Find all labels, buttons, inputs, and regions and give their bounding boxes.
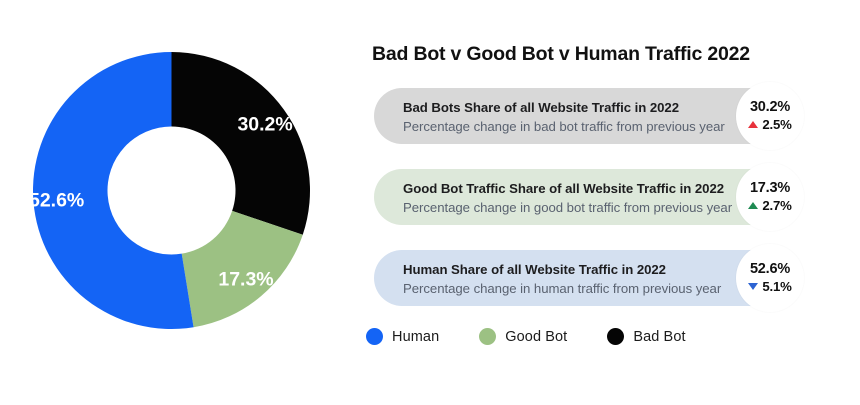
donut-chart: 30.2%17.3%52.6% [33,52,310,329]
stat-card-badge: 30.2%2.5% [736,82,804,150]
donut-chart-panel: 30.2%17.3%52.6% [0,0,360,405]
stat-card-delta-value: 2.7% [762,198,791,213]
stat-card-delta-value: 2.5% [762,117,791,132]
stat-card-delta-value: 5.1% [762,279,791,294]
arrow-down-icon [748,283,758,290]
stat-card-share-value: 17.3% [750,181,790,197]
stat-card-delta: 5.1% [748,279,791,294]
stat-card[interactable]: Bad Bots Share of all Website Traffic in… [374,88,804,144]
stat-card-text: Bad Bots Share of all Website Traffic in… [403,99,763,136]
arrow-up-icon [748,202,758,209]
page-title: Bad Bot v Good Bot v Human Traffic 2022 [372,43,750,66]
stat-card-share-value: 30.2% [750,100,790,116]
stat-card-text: Human Share of all Website Traffic in 20… [403,261,763,298]
stat-card-delta: 2.7% [748,198,791,213]
donut-label-bad-bot: 30.2% [237,113,292,135]
stats-panel: Bad Bot v Good Bot v Human Traffic 2022 … [360,0,860,405]
stat-card[interactable]: Good Bot Traffic Share of all Website Tr… [374,169,804,225]
stat-card-subtitle: Percentage change in bad bot traffic fro… [403,117,763,136]
stat-card-delta: 2.5% [748,117,791,132]
donut-label-human: 52.6% [33,190,84,212]
stat-card-badge: 17.3%2.7% [736,163,804,231]
stat-card-title: Good Bot Traffic Share of all Website Tr… [403,180,763,197]
stat-card-subtitle: Percentage change in human traffic from … [403,279,763,298]
infographic-root: 30.2%17.3%52.6% HumanGood BotBad Bot Bad… [0,0,860,405]
donut-slice-bad-bot [172,52,311,235]
stat-card-badge: 52.6%5.1% [736,244,804,312]
stat-card-text: Good Bot Traffic Share of all Website Tr… [403,180,763,217]
stat-card-list: Bad Bots Share of all Website Traffic in… [360,88,860,331]
donut-chart-svg: 30.2%17.3%52.6% [33,52,310,329]
stat-card-title: Human Share of all Website Traffic in 20… [403,261,763,278]
stat-card-title: Bad Bots Share of all Website Traffic in… [403,99,763,116]
stat-card[interactable]: Human Share of all Website Traffic in 20… [374,250,804,306]
stat-card-subtitle: Percentage change in good bot traffic fr… [403,198,763,217]
arrow-up-icon [748,121,758,128]
donut-label-good-bot: 17.3% [218,268,273,290]
stat-card-share-value: 52.6% [750,262,790,278]
